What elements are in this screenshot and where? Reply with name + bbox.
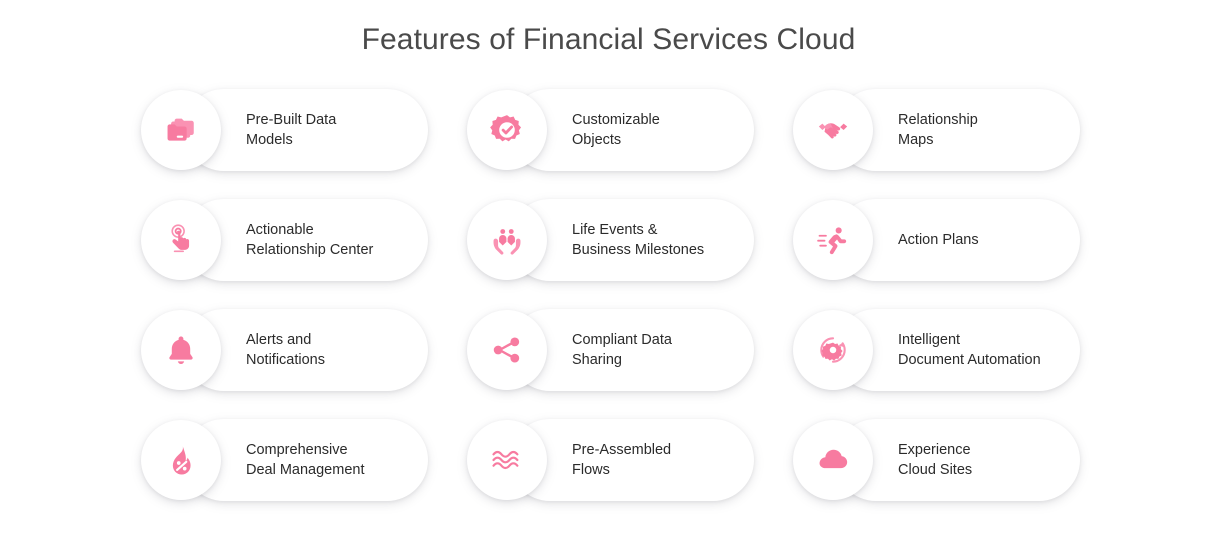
feature-label-line: Business Milestones (572, 240, 772, 260)
feature-label-line: Action Plans (898, 230, 1073, 250)
feature-label-line: Sharing (572, 350, 747, 370)
feature-icon-badge (793, 420, 873, 500)
feature-label-line: Flows (572, 460, 747, 480)
feature-label: Pre-AssembledFlows (572, 419, 747, 501)
feature-card[interactable]: Pre-AssembledFlows (467, 415, 793, 525)
feature-card[interactable]: Life Events &Business Milestones (467, 195, 793, 305)
feature-card[interactable]: RelationshipMaps (793, 85, 1119, 195)
feature-card[interactable]: IntelligentDocument Automation (793, 305, 1119, 415)
feature-label: IntelligentDocument Automation (898, 309, 1098, 391)
feature-label: ExperienceCloud Sites (898, 419, 1073, 501)
feature-label-line: Relationship (898, 110, 1073, 130)
feature-label: Life Events &Business Milestones (572, 199, 772, 281)
share-nodes-icon (490, 333, 524, 367)
feature-icon-badge (467, 310, 547, 390)
bell-icon (164, 333, 198, 367)
feature-label-line: Objects (572, 130, 747, 150)
feature-label-line: Customizable (572, 110, 747, 130)
feature-icon-badge (141, 310, 221, 390)
waves-icon (490, 443, 524, 477)
flame-percent-icon (164, 443, 198, 477)
feature-label-line: Pre-Assembled (572, 440, 747, 460)
cloud-icon (816, 443, 850, 477)
feature-label-line: Experience (898, 440, 1073, 460)
gear-check-icon (490, 113, 524, 147)
feature-card[interactable]: Action Plans (793, 195, 1119, 305)
handshake-icon (816, 113, 850, 147)
feature-label-line: Pre-Built Data (246, 110, 421, 130)
feature-label: Compliant DataSharing (572, 309, 747, 391)
feature-label-line: Models (246, 130, 421, 150)
feature-label-line: Notifications (246, 350, 446, 370)
feature-icon-badge (141, 90, 221, 170)
feature-label: Action Plans (898, 199, 1073, 281)
feature-label: CustomizableObjects (572, 89, 747, 171)
feature-card[interactable]: ExperienceCloud Sites (793, 415, 1119, 525)
feature-icon-badge (793, 90, 873, 170)
feature-icon-badge (467, 200, 547, 280)
page-title: Features of Financial Services Cloud (0, 20, 1217, 60)
feature-label-line: Compliant Data (572, 330, 747, 350)
hand-tap-icon (164, 223, 198, 257)
feature-label-line: Relationship Center (246, 240, 446, 260)
people-in-hands-icon (490, 223, 524, 257)
feature-icon-badge (467, 90, 547, 170)
feature-icon-badge (793, 200, 873, 280)
feature-label-line: Intelligent (898, 330, 1098, 350)
feature-label-line: Document Automation (898, 350, 1098, 370)
feature-card[interactable]: CustomizableObjects (467, 85, 793, 195)
feature-label-line: Actionable (246, 220, 446, 240)
feature-icon-badge (141, 200, 221, 280)
feature-card[interactable]: Pre-Built DataModels (141, 85, 467, 195)
running-person-icon (816, 223, 850, 257)
feature-card[interactable]: Alerts andNotifications (141, 305, 467, 415)
feature-label: ActionableRelationship Center (246, 199, 446, 281)
feature-label-line: Maps (898, 130, 1073, 150)
feature-card[interactable]: ComprehensiveDeal Management (141, 415, 467, 525)
features-grid: Pre-Built DataModels CustomizableObjects… (141, 85, 1093, 525)
infographic-page: Features of Financial Services Cloud Pre… (0, 0, 1217, 535)
feature-label-line: Cloud Sites (898, 460, 1073, 480)
feature-label: Pre-Built DataModels (246, 89, 421, 171)
feature-label-line: Alerts and (246, 330, 446, 350)
feature-label: Alerts andNotifications (246, 309, 446, 391)
feature-icon-badge (141, 420, 221, 500)
feature-label: RelationshipMaps (898, 89, 1073, 171)
gear-refresh-icon (816, 333, 850, 367)
feature-label: ComprehensiveDeal Management (246, 419, 446, 501)
feature-card[interactable]: ActionableRelationship Center (141, 195, 467, 305)
feature-label-line: Deal Management (246, 460, 446, 480)
folders-data-icon (164, 113, 198, 147)
feature-card[interactable]: Compliant DataSharing (467, 305, 793, 415)
feature-icon-badge (467, 420, 547, 500)
feature-label-line: Life Events & (572, 220, 772, 240)
feature-icon-badge (793, 310, 873, 390)
feature-label-line: Comprehensive (246, 440, 446, 460)
